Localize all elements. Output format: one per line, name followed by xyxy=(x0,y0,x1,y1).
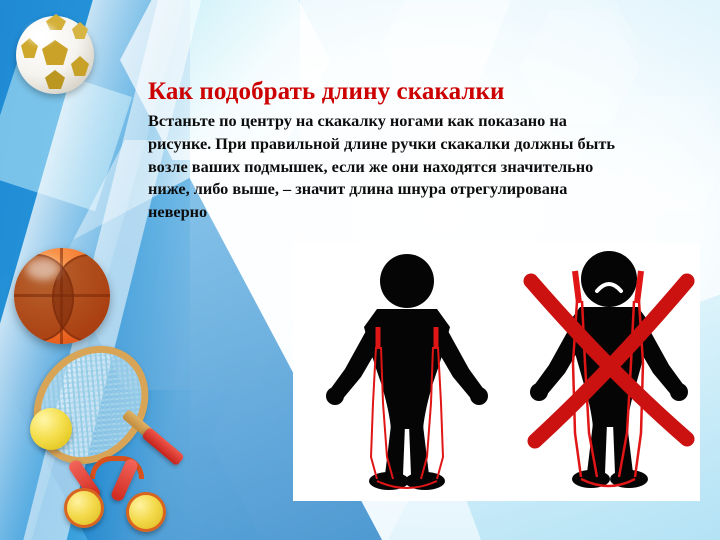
incorrect-figure-drawing xyxy=(523,243,698,501)
body-paragraph: Встаньте по центру на скакалку ногами ка… xyxy=(148,110,630,224)
soccer-ball-patch xyxy=(42,40,68,65)
figure-right-leg xyxy=(613,423,633,473)
stick-figure-body xyxy=(326,254,488,490)
soccer-ball-icon xyxy=(16,16,94,94)
jump-rope-cap xyxy=(64,488,104,528)
figure-head xyxy=(380,254,434,308)
incorrect-figure xyxy=(523,243,698,501)
page-title: Как подобрать длину скакалки xyxy=(148,78,505,106)
figure-head xyxy=(581,251,637,307)
soccer-ball-patch xyxy=(45,70,65,89)
basketball-icon xyxy=(14,248,110,344)
tennis-ball-icon xyxy=(30,408,72,450)
figure-left-hand xyxy=(530,383,548,401)
rope-handle-left xyxy=(575,271,579,303)
slide-root: Как подобрать длину скакалки Встаньте по… xyxy=(0,0,720,540)
correct-figure xyxy=(315,243,500,501)
soccer-ball-patch xyxy=(71,56,89,76)
basketball-highlight xyxy=(26,258,60,280)
jump-rope-cap xyxy=(126,492,166,532)
rope-handle-right xyxy=(637,271,641,303)
figure-left-hand xyxy=(326,387,344,405)
figure-left-leg xyxy=(385,425,405,475)
figure-right-hand xyxy=(670,383,688,401)
figure-right-hand xyxy=(470,387,488,405)
figure-right-leg xyxy=(409,425,429,475)
correct-figure-drawing xyxy=(315,243,500,501)
illustration-panel xyxy=(293,243,700,501)
jump-rope-icon xyxy=(64,452,194,536)
soccer-ball-highlight xyxy=(26,24,56,44)
